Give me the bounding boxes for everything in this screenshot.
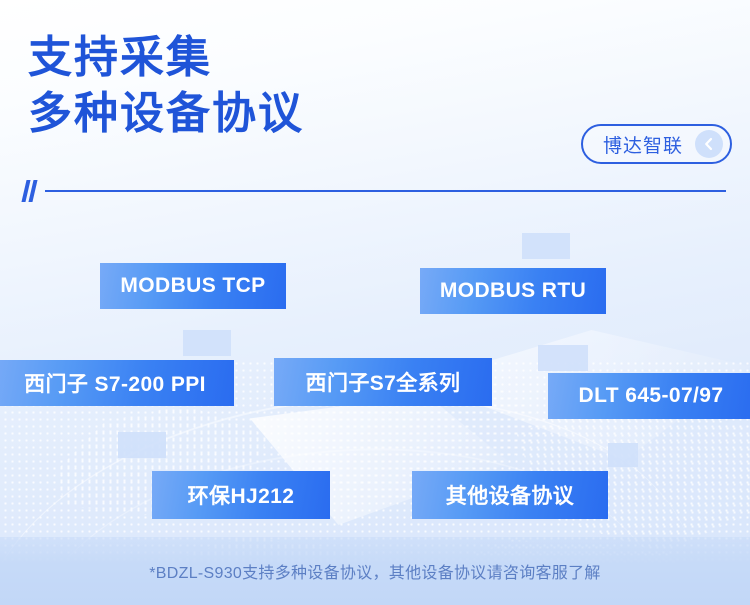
decorative-rect <box>183 330 231 356</box>
chevron-left-icon[interactable] <box>695 130 723 158</box>
footer-note: *BDZL-S930支持多种设备协议，其他设备协议请咨询客服了解 <box>149 559 600 583</box>
protocol-tag-label: 西门子 S7-200 PPI <box>24 368 206 398</box>
decorative-rect <box>522 233 570 259</box>
page-title: 支持采集 多种设备协议 <box>28 30 304 142</box>
brand-badge[interactable]: 博达智联 <box>581 124 732 164</box>
decorative-rect <box>118 432 166 458</box>
protocol-tag-label: 其他设备协议 <box>446 480 574 510</box>
promo-banner: 支持采集 多种设备协议 博达智联 MODBUS TCP MODBUS RTU 西… <box>0 0 750 605</box>
protocol-tag-label: 西门子S7全系列 <box>306 367 461 397</box>
protocol-tag-label: 环保HJ212 <box>188 480 295 510</box>
footer-band: *BDZL-S930支持多种设备协议，其他设备协议请咨询客服了解 <box>0 537 750 605</box>
brand-label: 博达智联 <box>603 131 683 158</box>
decorative-rect <box>538 345 588 371</box>
protocol-tag-label: MODBUS TCP <box>120 274 265 298</box>
protocol-tag[interactable]: MODBUS RTU <box>420 268 606 314</box>
protocol-tag[interactable]: DLT 645-07/97 <box>548 373 750 419</box>
section-divider <box>24 178 726 204</box>
protocol-tag[interactable]: MODBUS TCP <box>100 263 286 309</box>
decorative-rect <box>608 443 638 467</box>
protocol-tag[interactable]: 西门子 S7-200 PPI <box>0 360 234 406</box>
double-slash-icon <box>24 180 35 202</box>
protocol-tag[interactable]: 其他设备协议 <box>412 471 608 519</box>
protocol-tag-label: MODBUS RTU <box>440 279 586 303</box>
protocol-tag[interactable]: 西门子S7全系列 <box>274 358 492 406</box>
protocol-tag[interactable]: 环保HJ212 <box>152 471 330 519</box>
divider-line <box>45 190 726 192</box>
protocol-tag-label: DLT 645-07/97 <box>579 384 724 408</box>
